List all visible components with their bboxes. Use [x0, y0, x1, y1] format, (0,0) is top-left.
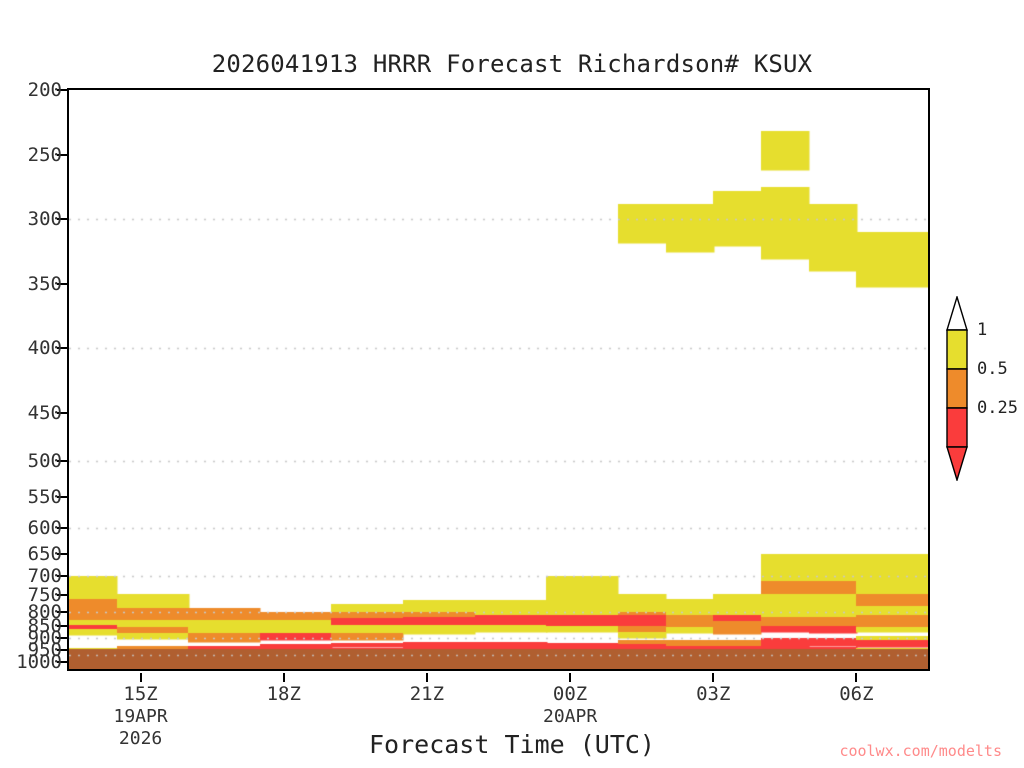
colorbar-legend: 10.50.25 — [941, 296, 973, 481]
colorbar-tick-label: 1 — [977, 320, 987, 340]
y-axis-tick-label: 450 — [28, 402, 62, 424]
colorbar-band — [947, 447, 967, 480]
x-axis-tick-label: 18Z — [267, 683, 301, 705]
x-axis-tick-label: 00Z — [553, 683, 587, 705]
colorbar-band — [947, 369, 967, 408]
watermark: coolwx.com/modelts — [839, 742, 1002, 760]
y-axis-tick-label: 600 — [28, 517, 62, 539]
colorbar-band — [947, 408, 967, 447]
x-axis-tick-label: 03Z — [696, 683, 730, 705]
colorbar-tick-label: 0.5 — [977, 359, 1008, 379]
y-axis-tick-label: 300 — [28, 208, 62, 230]
x-axis-date-label: 20APR — [543, 706, 597, 727]
colorbar-band — [947, 297, 967, 330]
y-axis-tick-label: 550 — [28, 486, 62, 508]
y-axis-tick-label: 650 — [28, 543, 62, 565]
y-axis-tick-label: 200 — [28, 79, 62, 101]
x-axis-date-label: 19APR — [113, 706, 167, 727]
y-axis-tick-label: 500 — [28, 450, 62, 472]
chart-title: 2026041913 HRRR Forecast Richardson# KSU… — [0, 50, 1024, 78]
y-axis-labels: 2002503003504004505005506006507007508008… — [0, 88, 62, 671]
y-axis-tick-label: 250 — [28, 144, 62, 166]
colorbar-band — [947, 330, 967, 369]
y-axis-tick-label: 350 — [28, 273, 62, 295]
colorbar-svg — [941, 296, 973, 481]
y-axis-tick-label: 1000 — [16, 651, 62, 673]
heatmap-canvas — [69, 90, 928, 669]
y-axis-tick-label: 400 — [28, 337, 62, 359]
plot-area — [67, 88, 930, 671]
colorbar-tick-label: 0.25 — [977, 398, 1018, 418]
x-axis-tick-label: 21Z — [410, 683, 444, 705]
x-axis-tick-label: 06Z — [839, 683, 873, 705]
x-axis-tick-label: 15Z — [123, 683, 157, 705]
